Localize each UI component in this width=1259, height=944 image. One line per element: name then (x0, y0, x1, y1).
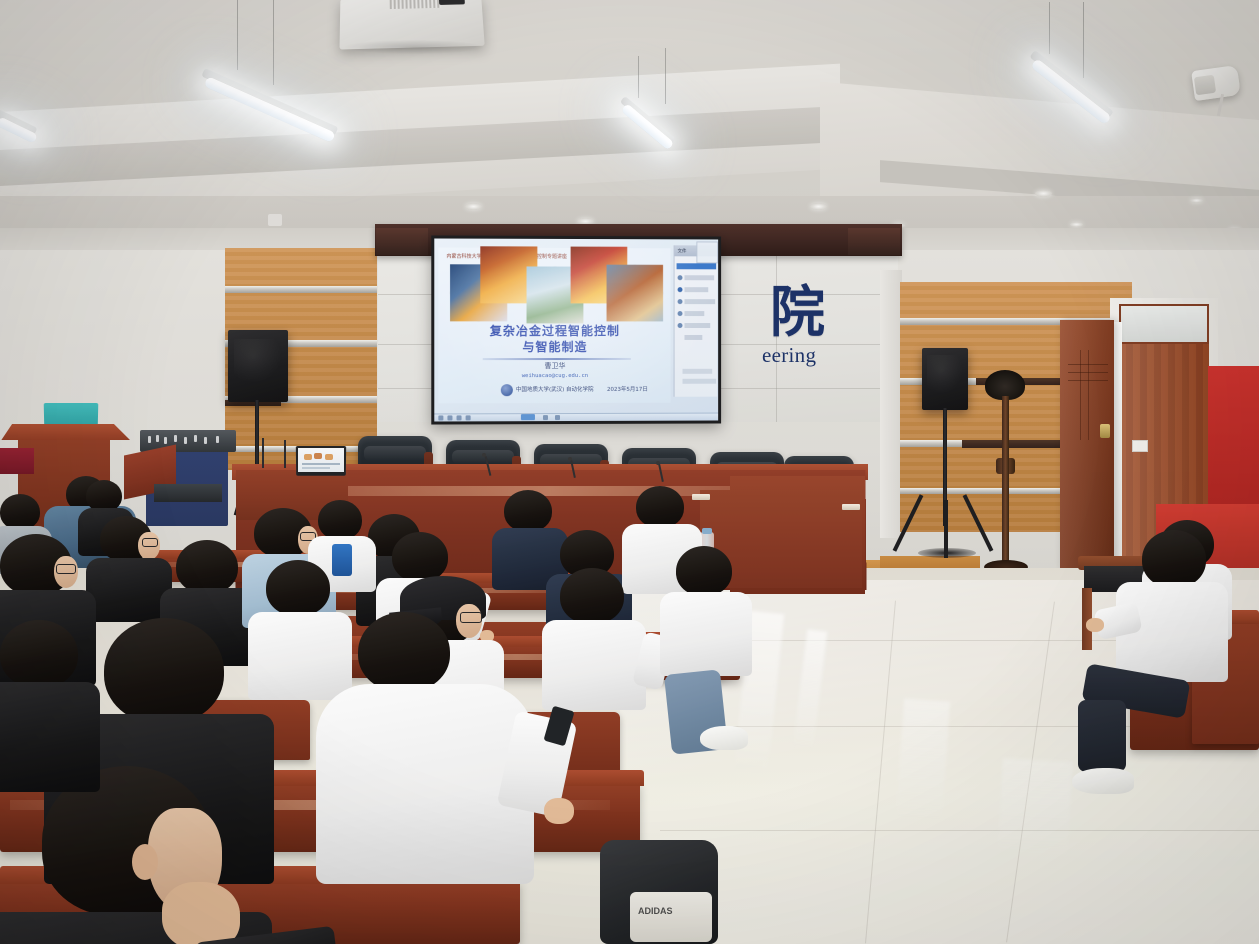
file-explorer-panel[interactable]: 文件 (674, 245, 718, 396)
dais-nameplate (842, 504, 860, 510)
slide-divider-rule (483, 358, 631, 360)
wall-sign-chinese: 院 (770, 283, 850, 345)
presenter-laptop-screen (298, 448, 344, 472)
slide-org-logo-icon (501, 384, 513, 396)
collage-tile-industrial-plant (607, 265, 663, 321)
door-transom-window (1119, 304, 1209, 344)
valance-right-block (848, 228, 900, 255)
tube-lamp (621, 103, 675, 151)
gooseneck-microphone-icon (284, 440, 286, 468)
gooseneck-microphone-icon (262, 438, 264, 468)
coat-rack-pole (1002, 396, 1009, 571)
slide-email: weihuacao@cug.edu.cn (438, 372, 670, 381)
door-handle-icon[interactable] (1100, 424, 1110, 438)
light-wire (1083, 2, 1084, 78)
podium-top (0, 424, 130, 440)
microphone-head (568, 457, 572, 461)
projector-vent (390, 0, 442, 9)
tube-lamp (204, 76, 336, 143)
dais-nameplate (692, 494, 710, 500)
light-wire (665, 48, 666, 104)
lecture-hall-photo: 院 eering 内蒙古科技大学信息工程学院自动化工程控制专题讲座 2023.5… (0, 0, 1259, 944)
ceiling-tube-light-1 (205, 64, 355, 154)
projector-lens (439, 0, 465, 5)
downlight-icon (1070, 222, 1083, 227)
downlight-icon (1035, 190, 1052, 197)
bottle-cap (702, 528, 712, 534)
secondary-dialog[interactable] (696, 241, 718, 263)
wall-outlet-icon (1132, 440, 1148, 452)
shirt-graphic (332, 544, 352, 576)
presentation-slide: 内蒙古科技大学信息工程学院自动化工程控制专题讲座 2023.5.17 (438, 248, 670, 404)
microphone-head (656, 461, 660, 465)
downlight-icon (465, 203, 482, 210)
wall-speaker-grill (1194, 75, 1216, 96)
ceiling-tube-light-2 (0, 118, 40, 162)
wall-sign-english: eering (762, 343, 892, 369)
slide-title-line2: 与智能制造 (438, 340, 670, 355)
taskbar-active-window[interactable] (521, 414, 535, 420)
speaker-stand-base (918, 548, 976, 558)
microphone-head (482, 453, 486, 457)
slide-image-collage (457, 267, 657, 319)
downlight-icon (810, 203, 827, 210)
valance-left-block (376, 228, 428, 255)
red-banner-right (1208, 366, 1259, 516)
downlight-icon (1190, 198, 1203, 203)
backpack-brand-text: ADIDAS (638, 906, 706, 916)
light-wire (638, 56, 639, 98)
slide-footer-date: 2023年5月17日 (607, 385, 648, 395)
ceiling-sensor-icon (268, 214, 282, 226)
door-opening-gap (1113, 322, 1122, 560)
wall-trim-right (880, 270, 902, 538)
open-door[interactable] (1060, 320, 1114, 570)
pa-speaker-right-icon (922, 348, 968, 410)
podium-side-panel (0, 448, 34, 474)
backpack-pouch (630, 892, 712, 942)
panel-selected-row[interactable] (677, 263, 717, 269)
slide-author: 曹卫华 (438, 361, 670, 372)
slide-title-line1: 复杂冶金过程智能控制 (438, 324, 670, 339)
projection-screen-frame: 内蒙古科技大学信息工程学院自动化工程控制专题讲座 2023.5.17 (431, 235, 721, 424)
ceiling-tube-light-4 (1035, 48, 1140, 138)
light-wire (1049, 2, 1050, 54)
rack-amplifier-unit (154, 484, 222, 502)
projector-shadow (345, 40, 483, 54)
light-wire (273, 0, 274, 85)
ceiling-tube-light-3 (625, 94, 695, 164)
projection-screen[interactable]: 内蒙古科技大学信息工程学院自动化工程控制专题讲座 2023.5.17 (434, 238, 718, 421)
light-wire (237, 0, 238, 70)
sneaker (700, 726, 748, 750)
windows-taskbar[interactable] (434, 413, 718, 422)
pa-speaker-left-icon (228, 330, 288, 402)
slide-organization: 中国地质大学(武汉) 自动化学院 (516, 385, 594, 395)
tube-lamp (1030, 58, 1112, 125)
